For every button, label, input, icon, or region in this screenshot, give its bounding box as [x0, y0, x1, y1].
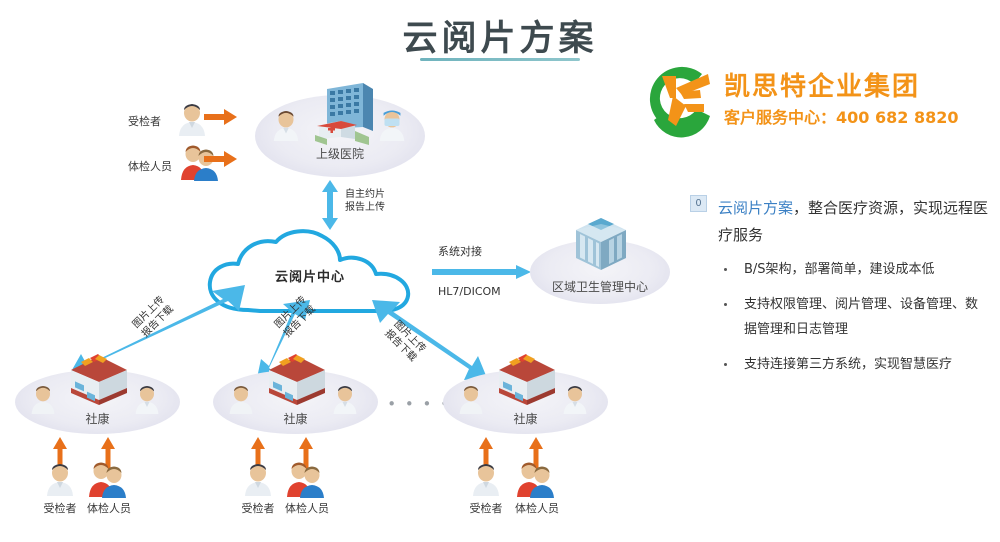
server-rack-icon — [568, 216, 634, 280]
edge-label-hospital-cloud: 自主约片 报告上传 — [345, 188, 385, 214]
clinic-building-icon — [63, 348, 135, 406]
page-title: 云阅片方案 — [0, 10, 1000, 61]
node-clinic-1: 社康 — [15, 370, 180, 434]
kst-logo-icon — [640, 64, 718, 136]
clinic-actor-staff-label: 体检人员 — [80, 500, 138, 516]
clinic-actor-patient-label: 受检者 — [232, 500, 284, 516]
node-clinic-3: 社康 — [443, 370, 608, 434]
clinic-actor-patient-label: 受检者 — [34, 500, 86, 516]
top-actor-staff-label: 体检人员 — [128, 158, 172, 174]
clinic-actor-patient-label: 受检者 — [460, 500, 512, 516]
people-icon — [516, 461, 556, 499]
clinic-actor-staff-label: 体检人员 — [278, 500, 336, 516]
node-upper-hospital-label: 上级医院 — [255, 145, 425, 162]
node-cloud-center-label: 云阅片中心 — [200, 266, 420, 285]
node-clinic-1-label: 社康 — [15, 410, 180, 427]
person-icon — [44, 463, 76, 497]
panel-lead-text: 云阅片方案，整合医疗资源，实现远程医疗服务 — [718, 195, 990, 249]
clinic-actor-staff-label: 体检人员 — [508, 500, 566, 516]
arrow-right-icon — [204, 108, 238, 126]
node-regional-center: 区域卫生管理中心 — [530, 240, 670, 304]
node-clinic-2: 社康 — [213, 370, 378, 434]
arrow-vertical-bidirectional-icon — [320, 180, 340, 230]
panel-marker: 0 — [690, 195, 707, 212]
clinic-building-icon — [491, 348, 563, 406]
arrow-right-blue-icon — [432, 265, 532, 279]
feature-list: B/S架构，部署简单，建设成本低 支持权限管理、阅片管理、设备管理、数据管理和日… — [718, 257, 990, 377]
node-regional-center-label: 区域卫生管理中心 — [530, 278, 670, 295]
list-item: 支持权限管理、阅片管理、设备管理、数据管理和日志管理 — [718, 292, 990, 342]
person-icon — [470, 463, 502, 497]
hospital-building-icon — [311, 79, 381, 151]
panel-lead-highlight: 云阅片方案 — [718, 199, 793, 217]
list-item: B/S架构，部署简单，建设成本低 — [718, 257, 990, 282]
arrow-right-icon — [204, 150, 238, 168]
node-upper-hospital: 上级医院 — [255, 95, 425, 177]
person-icon — [242, 463, 274, 497]
logo-service-line: 客户服务中心：400 682 8820 — [724, 104, 958, 128]
description-panel: 0 云阅片方案，整合医疗资源，实现远程医疗服务 B/S架构，部署简单，建设成本低… — [700, 195, 990, 387]
top-actor-patient-label: 受检者 — [128, 113, 161, 129]
edge-label-system-docking: 系统对接 — [438, 245, 482, 258]
people-icon — [286, 461, 326, 499]
people-icon — [88, 461, 128, 499]
company-logo: 凯思特企业集团 客户服务中心：400 682 8820 — [640, 62, 990, 144]
list-item: 支持连接第三方系统，实现智慧医疗 — [718, 352, 990, 377]
edge-label-protocol: HL7/DICOM — [438, 285, 501, 298]
node-clinic-2-label: 社康 — [213, 410, 378, 427]
surgeon-icon — [377, 109, 407, 143]
title-underline — [420, 58, 580, 61]
doctor-icon — [271, 109, 301, 143]
logo-company-name: 凯思特企业集团 — [724, 66, 920, 103]
slide-canvas: 云阅片方案 凯思特企业集团 客户服务中心：400 682 8820 0 云阅片方… — [0, 0, 1000, 542]
clinic-building-icon — [261, 348, 333, 406]
node-clinic-3-label: 社康 — [443, 410, 608, 427]
